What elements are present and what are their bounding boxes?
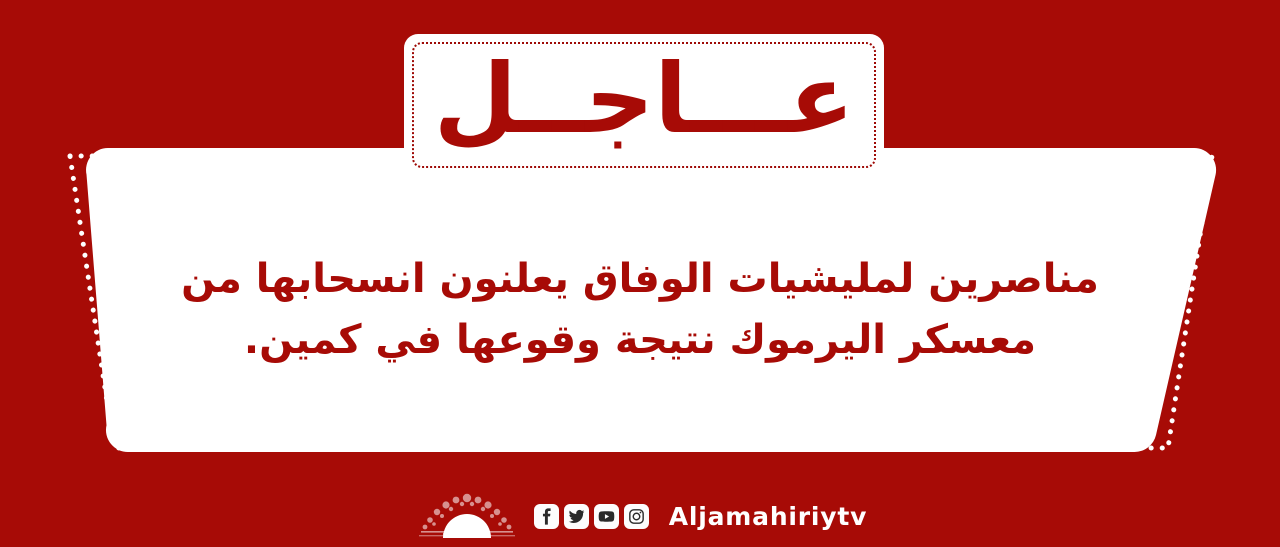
social-links (534, 504, 649, 529)
urgent-badge: عـــاجــل (404, 34, 884, 176)
youtube-icon[interactable] (594, 504, 619, 529)
aljamahiriya-dome-logo (413, 491, 521, 541)
instagram-icon[interactable] (624, 504, 649, 529)
headline-container: مناصرين لمليشيات الوفاق يعلنون انسحابها … (118, 215, 1162, 405)
twitter-icon[interactable] (564, 504, 589, 529)
facebook-icon[interactable] (534, 504, 559, 529)
news-card-graphic: عـــاجــل مناصرين لمليشيات الوفاق يعلنون… (0, 0, 1280, 547)
footer-bar: Aljamahiriytv (0, 485, 1280, 547)
brand-name: Aljamahiriytv (669, 502, 868, 531)
headline-text: مناصرين لمليشيات الوفاق يعلنون انسحابها … (140, 249, 1140, 371)
urgent-badge-label: عـــاجــل (404, 34, 884, 176)
